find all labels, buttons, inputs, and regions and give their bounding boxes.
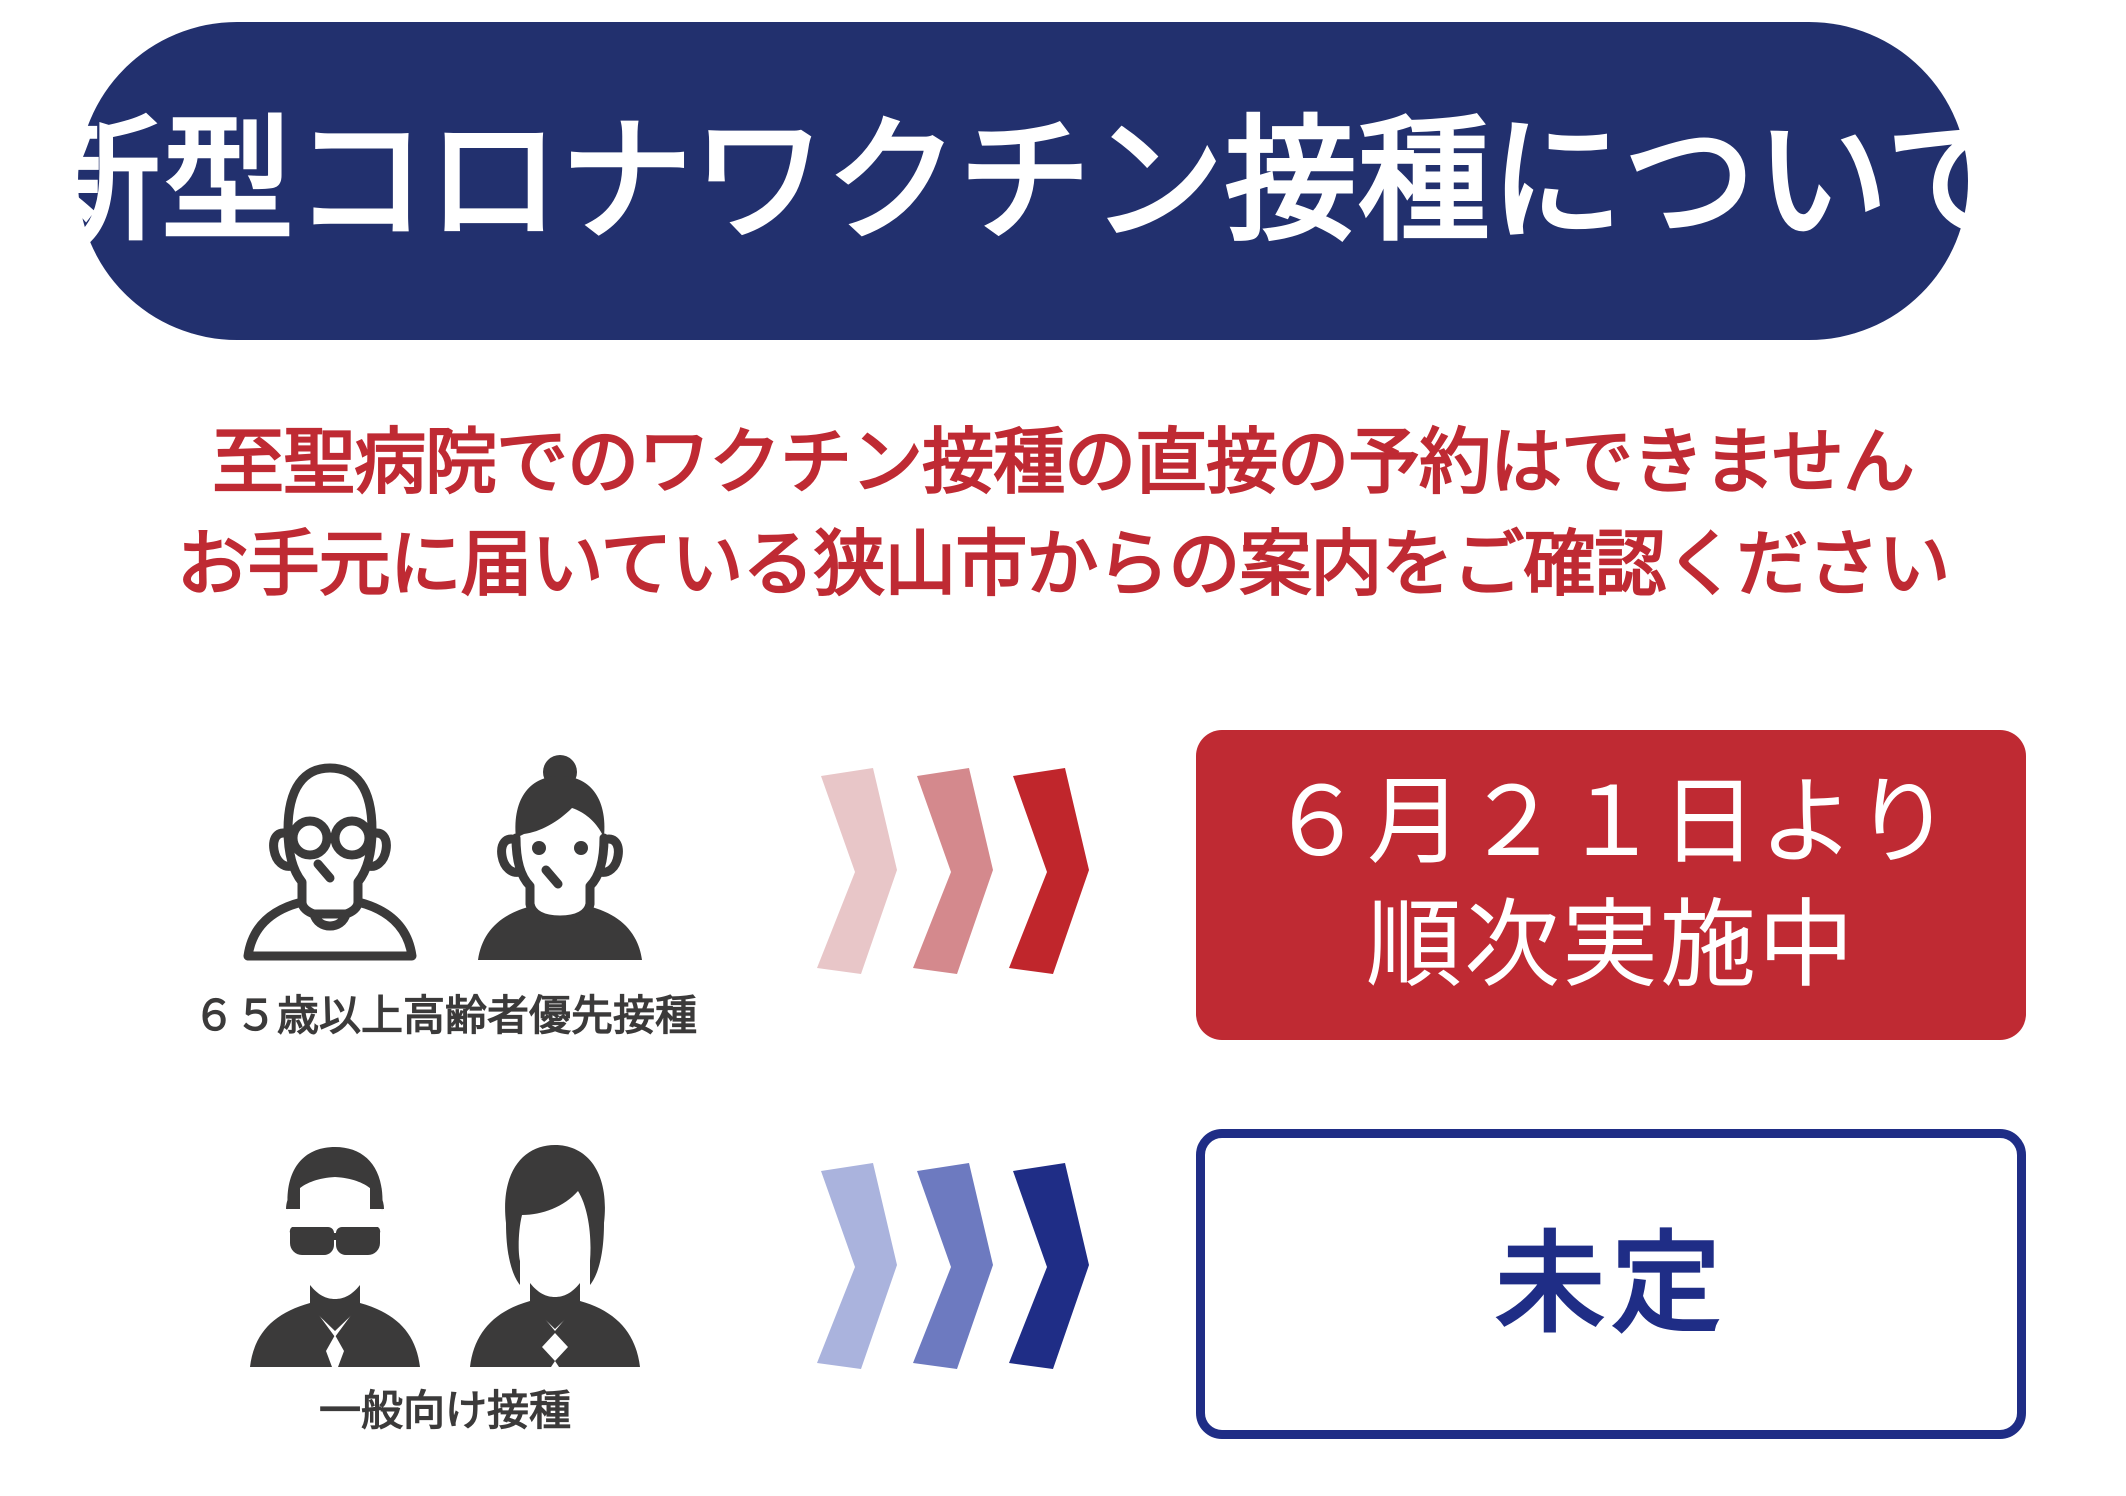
chevron-right-icon-5 bbox=[911, 1157, 993, 1375]
general-icon-group bbox=[180, 1135, 710, 1367]
senior-status-line-1: ６月２１日より bbox=[1269, 762, 1953, 885]
notice-block: 至聖病院でのワクチン接種の直接の予約はできません お手元に届いている狭山市からの… bbox=[0, 412, 2126, 616]
businessman-with-glasses-icon bbox=[240, 1135, 430, 1367]
title-banner: 新型コロナワクチン接種について bbox=[78, 22, 1968, 340]
page-title: 新型コロナワクチン接種について bbox=[28, 113, 2017, 249]
chevron-right-icon-1 bbox=[815, 762, 897, 980]
senior-status-badge: ６月２１日より 順次実施中 bbox=[1196, 730, 2026, 1040]
chevron-right-icon-4 bbox=[815, 1157, 897, 1375]
vaccination-notice-poster: 新型コロナワクチン接種について 至聖病院でのワクチン接種の直接の予約はできません… bbox=[0, 0, 2126, 1496]
chevron-right-icon-6 bbox=[1007, 1157, 1089, 1375]
elderly-woman-with-bun-icon bbox=[460, 752, 660, 972]
senior-label: ６５歳以上高齢者優先接種 bbox=[180, 982, 710, 1043]
chevron-right-icon-3 bbox=[1007, 762, 1089, 980]
senior-people-block: ６５歳以上高齢者優先接種 bbox=[180, 740, 710, 1043]
senior-status-line-2: 順次実施中 bbox=[1366, 885, 1856, 1008]
notice-line-2: お手元に届いている狭山市からの案内をご確認ください bbox=[0, 514, 2126, 616]
row-general-vaccination: 一般向け接種 未定 bbox=[0, 1135, 2126, 1465]
elderly-man-with-glasses-icon bbox=[230, 752, 430, 972]
notice-line-1: 至聖病院でのワクチン接種の直接の予約はできません bbox=[0, 412, 2126, 514]
general-people-block: 一般向け接種 bbox=[180, 1135, 710, 1438]
general-status-badge: 未定 bbox=[1196, 1129, 2026, 1439]
businesswoman-icon bbox=[460, 1135, 650, 1367]
senior-arrow-group bbox=[815, 762, 1089, 980]
general-arrow-group bbox=[815, 1157, 1089, 1375]
chevron-right-icon-2 bbox=[911, 762, 993, 980]
general-label: 一般向け接種 bbox=[180, 1377, 710, 1438]
row-senior-vaccination: ６５歳以上高齢者優先接種 ６月２１日より 順次実施中 bbox=[0, 740, 2126, 1070]
general-status-line-1: 未定 bbox=[1495, 1224, 1727, 1345]
senior-icon-group bbox=[180, 740, 710, 972]
